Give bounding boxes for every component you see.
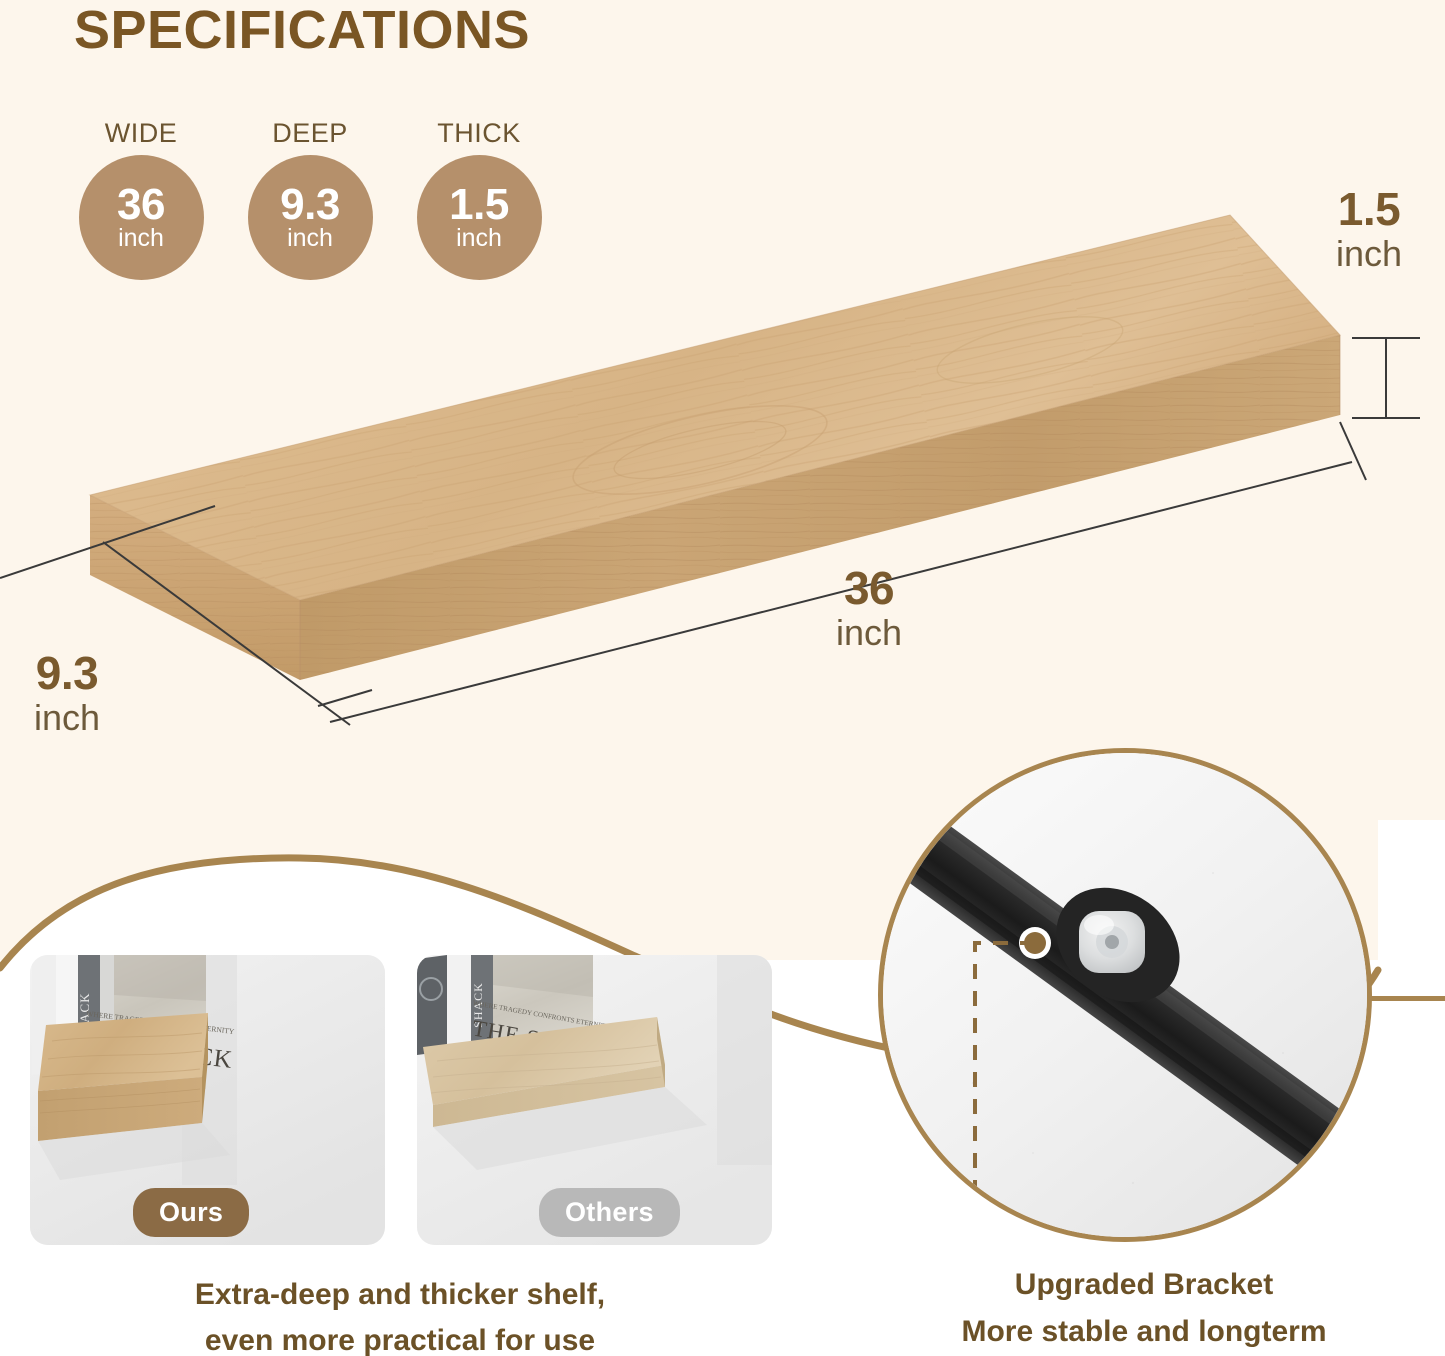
comparison-card-ours: SHACK WHERE TRAGEDY CONFRONTS ETERNITY T…	[30, 955, 385, 1245]
thickness-value: 1.5	[1338, 183, 1400, 235]
width-callout: 36 inch	[836, 565, 902, 651]
thickness-dimension-line	[1352, 338, 1420, 418]
width-unit: inch	[836, 615, 902, 651]
width-value: 36	[844, 562, 894, 614]
bracket-caption-line1: Upgraded Bracket	[905, 1262, 1383, 1309]
comparison-caption-line1: Extra-deep and thicker shelf,	[20, 1272, 780, 1318]
thickness-unit: inch	[1336, 236, 1402, 272]
comparison-caption-line2: even more practical for use	[20, 1318, 780, 1356]
depth-callout: 9.3 inch	[34, 650, 100, 736]
bracket-caption-line2: More stable and longterm	[905, 1309, 1383, 1356]
badge-others: Others	[539, 1188, 680, 1237]
specification-infographic: SPECIFICATIONS WIDE 36 inch DEEP 9.3 inc…	[0, 0, 1445, 1356]
badge-ours: Ours	[133, 1188, 249, 1237]
page-title: SPECIFICATIONS	[74, 2, 530, 59]
spec-label-thick: THICK	[437, 118, 521, 149]
magnifier-circle	[878, 748, 1372, 1242]
comparison-card-others: SHACK WHERE TRAGEDY CONFRONTS ETERNITY T…	[417, 955, 772, 1245]
bracket-caption: Upgraded Bracket More stable and longter…	[905, 1262, 1383, 1355]
comparison-caption: Extra-deep and thicker shelf, even more …	[20, 1272, 780, 1356]
shelf-3d-illustration	[0, 150, 1420, 770]
depth-unit: inch	[34, 700, 100, 736]
bracket-photo	[883, 753, 1367, 1237]
spec-label-deep: DEEP	[272, 118, 348, 149]
comparison-cards: SHACK WHERE TRAGEDY CONFRONTS ETERNITY T…	[30, 955, 772, 1245]
depth-value: 9.3	[36, 647, 98, 699]
spec-label-wide: WIDE	[105, 118, 178, 149]
thickness-callout: 1.5 inch	[1336, 186, 1402, 272]
bracket-magnifier	[878, 748, 1378, 1248]
